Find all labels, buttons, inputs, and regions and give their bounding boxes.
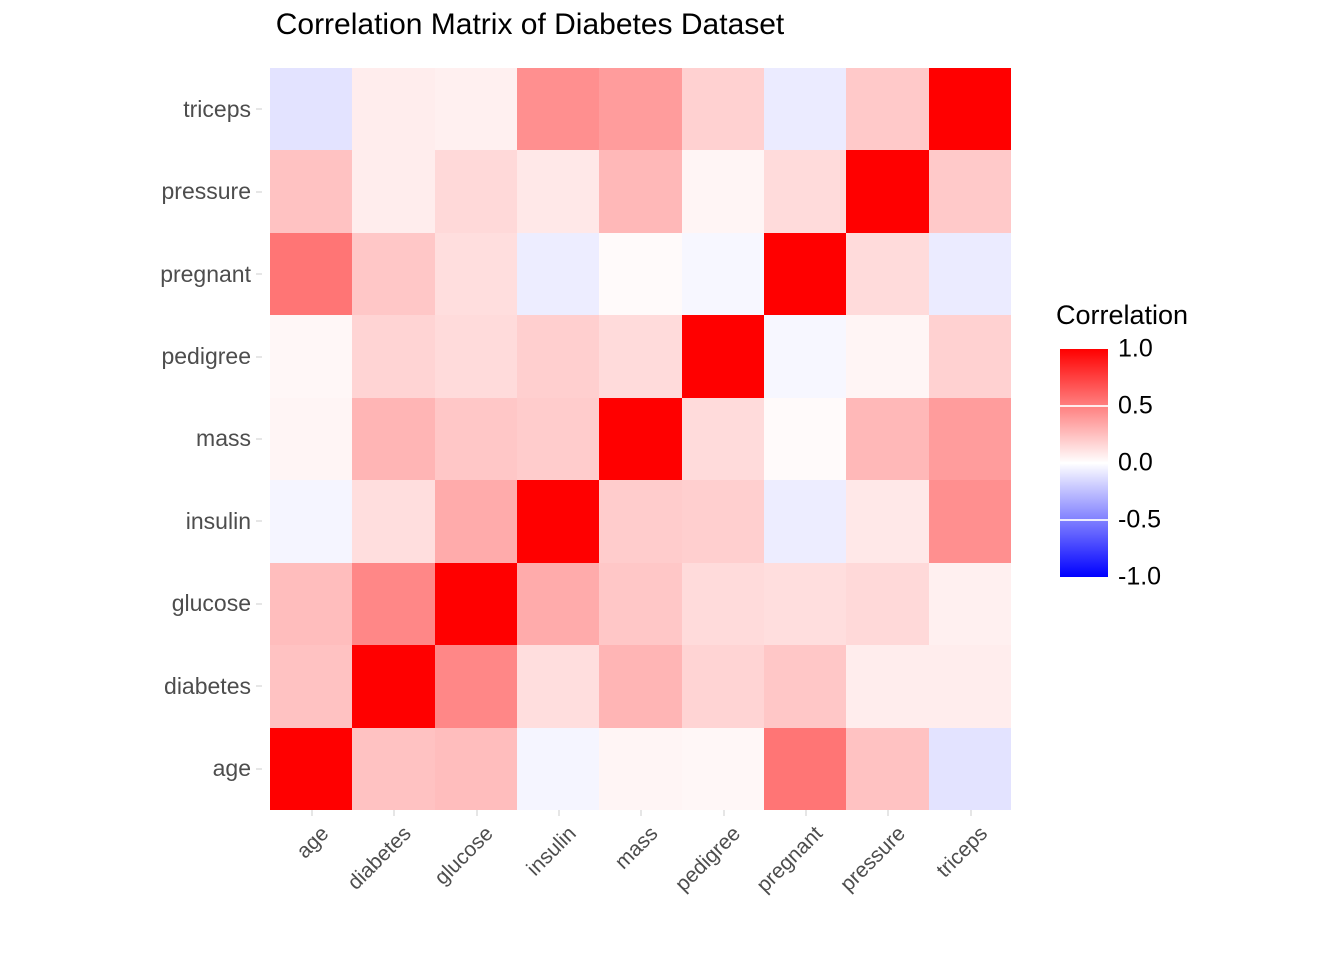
heatmap-cell: [352, 480, 434, 562]
x-tick-label: mass: [611, 822, 663, 874]
heatmap-cell: [764, 398, 846, 480]
legend-tick-mark: [1060, 348, 1108, 350]
heatmap-cell: [599, 728, 681, 810]
heatmap-cell: [435, 728, 517, 810]
y-axis: tricepspressurepregnantpedigreemassinsul…: [0, 68, 262, 810]
x-tick-label: glucose: [431, 822, 499, 890]
x-tick: pressure: [846, 810, 928, 930]
heatmap-cell: [599, 315, 681, 397]
heatmap-cell: [435, 315, 517, 397]
heatmap-panel: [270, 68, 1011, 810]
heatmap-cell: [270, 480, 352, 562]
y-tick: diabetes: [0, 645, 262, 727]
heatmap-cell: [846, 728, 928, 810]
x-tick-label: diabetes: [343, 822, 416, 895]
y-tick-label: insulin: [186, 508, 251, 535]
heatmap-cell: [682, 645, 764, 727]
x-tick: triceps: [929, 810, 1011, 930]
heatmap-cell: [764, 645, 846, 727]
heatmap-cell: [599, 480, 681, 562]
heatmap-cell: [435, 563, 517, 645]
heatmap-cell: [270, 68, 352, 150]
heatmap-cell: [599, 68, 681, 150]
heatmap-cell: [435, 480, 517, 562]
y-tick: pregnant: [0, 233, 262, 315]
legend-tick-mark: [1060, 462, 1108, 464]
y-tick: insulin: [0, 480, 262, 562]
heatmap-cell: [599, 398, 681, 480]
heatmap-cell: [682, 480, 764, 562]
x-tick-mark: [393, 810, 395, 816]
x-tick-label: insulin: [522, 822, 581, 881]
heatmap-grid: [270, 68, 1011, 810]
x-tick: mass: [599, 810, 681, 930]
heatmap-cell: [270, 645, 352, 727]
x-tick: diabetes: [352, 810, 434, 930]
y-tick-label: mass: [196, 425, 251, 452]
y-tick-label: glucose: [172, 590, 251, 617]
heatmap-cell: [599, 645, 681, 727]
heatmap-cell: [764, 315, 846, 397]
x-tick: insulin: [517, 810, 599, 930]
y-tick-label: age: [213, 755, 251, 782]
heatmap-cell: [846, 398, 928, 480]
heatmap-cell: [682, 563, 764, 645]
y-tick-mark: [256, 273, 262, 275]
heatmap-cell: [764, 480, 846, 562]
y-tick-mark: [256, 356, 262, 358]
heatmap-cell: [517, 480, 599, 562]
heatmap-cell: [682, 728, 764, 810]
heatmap-cell: [517, 233, 599, 315]
x-tick-label: pressure: [836, 822, 911, 897]
heatmap-cell: [599, 563, 681, 645]
y-tick: glucose: [0, 563, 262, 645]
heatmap-cell: [846, 68, 928, 150]
legend-tick-mark: [1060, 576, 1108, 578]
heatmap-cell: [352, 233, 434, 315]
heatmap-cell: [352, 728, 434, 810]
heatmap-cell: [682, 150, 764, 232]
heatmap-cell: [929, 315, 1011, 397]
y-tick-label: pressure: [162, 178, 251, 205]
heatmap-cell: [352, 398, 434, 480]
heatmap-cell: [517, 728, 599, 810]
legend-tick-label: 0.0: [1118, 449, 1153, 478]
heatmap-cell: [929, 728, 1011, 810]
heatmap-cell: [352, 645, 434, 727]
legend-tick-label: -1.0: [1118, 563, 1161, 592]
x-tick-label: age: [292, 822, 334, 864]
x-tick: pregnant: [764, 810, 846, 930]
heatmap-cell: [846, 315, 928, 397]
heatmap-cell: [270, 315, 352, 397]
heatmap-cell: [270, 728, 352, 810]
y-tick-mark: [256, 768, 262, 770]
legend-tick-mark: [1060, 519, 1108, 521]
y-tick-mark: [256, 685, 262, 687]
y-tick-mark: [256, 603, 262, 605]
y-tick-label: diabetes: [164, 673, 251, 700]
y-tick-label: pregnant: [160, 261, 251, 288]
x-tick-label: triceps: [932, 822, 993, 883]
x-tick: glucose: [435, 810, 517, 930]
legend-title: Correlation: [1056, 300, 1316, 331]
x-tick: age: [270, 810, 352, 930]
heatmap-cell: [352, 563, 434, 645]
x-tick: pedigree: [682, 810, 764, 930]
heatmap-cell: [352, 315, 434, 397]
heatmap-cell: [435, 233, 517, 315]
heatmap-cell: [517, 68, 599, 150]
heatmap-cell: [682, 315, 764, 397]
y-tick-label: triceps: [183, 96, 251, 123]
legend-body: 1.00.50.0-0.5-1.0: [1056, 337, 1256, 582]
heatmap-cell: [435, 150, 517, 232]
heatmap-cell: [435, 68, 517, 150]
heatmap-cell: [929, 480, 1011, 562]
heatmap-cell: [846, 480, 928, 562]
x-tick-mark: [311, 810, 313, 816]
heatmap-cell: [929, 645, 1011, 727]
heatmap-cell: [682, 398, 764, 480]
x-tick-mark: [558, 810, 560, 816]
heatmap-plot: Correlation Matrix of Diabetes Dataset t…: [0, 0, 1344, 960]
heatmap-cell: [846, 645, 928, 727]
heatmap-cell: [929, 68, 1011, 150]
y-tick: mass: [0, 398, 262, 480]
heatmap-cell: [682, 233, 764, 315]
heatmap-cell: [352, 150, 434, 232]
x-tick-mark: [805, 810, 807, 816]
heatmap-cell: [599, 150, 681, 232]
heatmap-cell: [517, 563, 599, 645]
heatmap-cell: [929, 563, 1011, 645]
y-tick: triceps: [0, 68, 262, 150]
heatmap-cell: [929, 150, 1011, 232]
y-tick-mark: [256, 438, 262, 440]
y-tick-label: pedigree: [161, 343, 251, 370]
y-tick: age: [0, 728, 262, 810]
heatmap-cell: [764, 728, 846, 810]
heatmap-cell: [517, 645, 599, 727]
heatmap-cell: [435, 398, 517, 480]
y-tick: pressure: [0, 150, 262, 232]
y-tick: pedigree: [0, 315, 262, 397]
x-tick-mark: [723, 810, 725, 816]
heatmap-cell: [846, 233, 928, 315]
heatmap-cell: [270, 563, 352, 645]
y-tick-mark: [256, 191, 262, 193]
x-axis: agediabetesglucoseinsulinmasspedigreepre…: [270, 810, 1011, 930]
y-tick-mark: [256, 108, 262, 110]
heatmap-cell: [764, 563, 846, 645]
heatmap-cell: [846, 150, 928, 232]
y-tick-mark: [256, 520, 262, 522]
x-tick-label: pedigree: [671, 822, 746, 897]
heatmap-cell: [435, 645, 517, 727]
heatmap-cell: [682, 68, 764, 150]
x-tick-mark: [970, 810, 972, 816]
heatmap-cell: [929, 398, 1011, 480]
heatmap-cell: [517, 315, 599, 397]
legend: Correlation 1.00.50.0-0.5-1.0: [1056, 300, 1316, 582]
heatmap-cell: [352, 68, 434, 150]
page-title: Correlation Matrix of Diabetes Dataset: [0, 8, 1060, 42]
legend-tick-label: 1.0: [1118, 335, 1153, 364]
x-tick-mark: [887, 810, 889, 816]
heatmap-cell: [599, 233, 681, 315]
heatmap-cell: [764, 233, 846, 315]
legend-tick-label: 0.5: [1118, 392, 1153, 421]
heatmap-cell: [270, 233, 352, 315]
x-tick-mark: [476, 810, 478, 816]
legend-tick-label: -0.5: [1118, 506, 1161, 535]
heatmap-cell: [517, 398, 599, 480]
heatmap-cell: [846, 563, 928, 645]
heatmap-cell: [929, 233, 1011, 315]
heatmap-cell: [270, 150, 352, 232]
x-tick-mark: [640, 810, 642, 816]
heatmap-cell: [517, 150, 599, 232]
heatmap-cell: [764, 68, 846, 150]
x-tick-label: pregnant: [753, 822, 829, 898]
legend-tick-mark: [1060, 405, 1108, 407]
heatmap-cell: [764, 150, 846, 232]
heatmap-cell: [270, 398, 352, 480]
